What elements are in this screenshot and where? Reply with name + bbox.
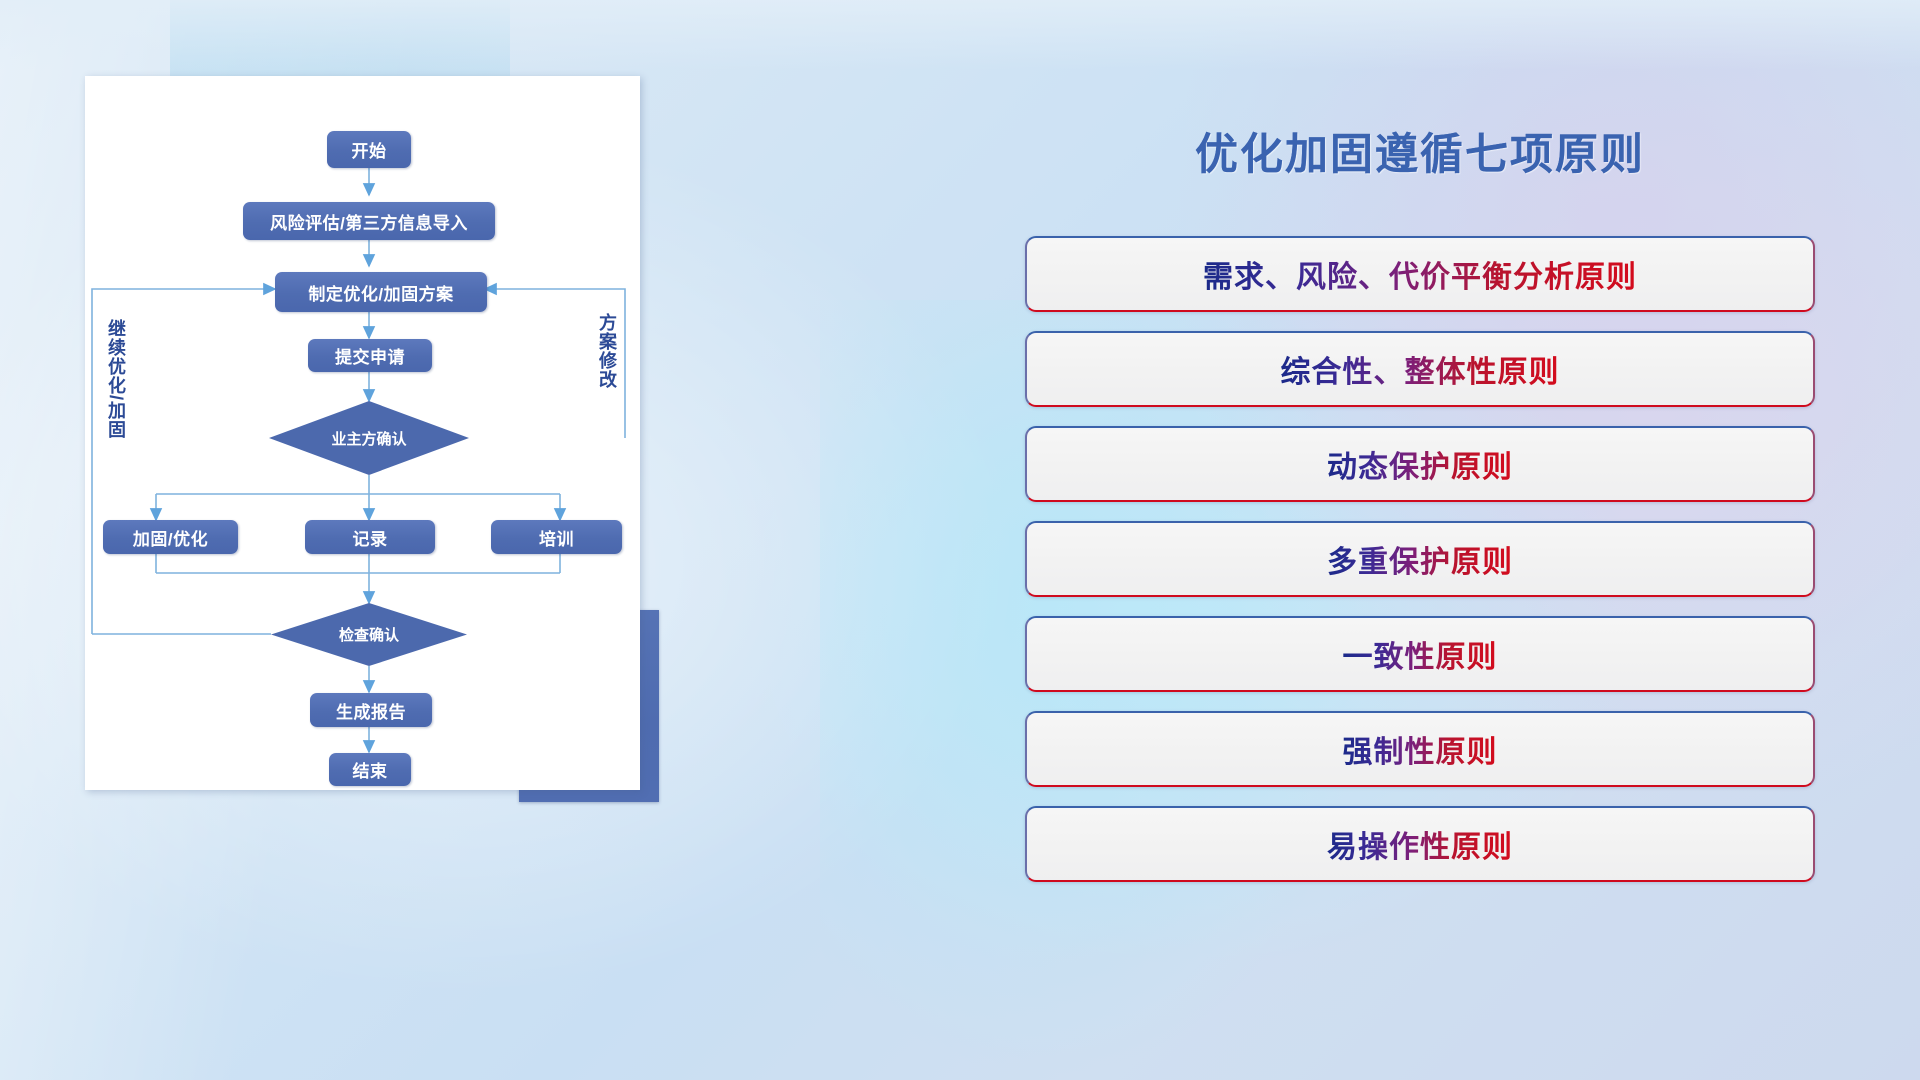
flow-edge-label-plan-revision: 方案修改 bbox=[598, 313, 616, 413]
principle-item-7-label: 易操作性原则 bbox=[1327, 822, 1513, 866]
principle-item-5[interactable]: 一致性原则 bbox=[1025, 616, 1815, 692]
principle-item-3-label: 动态保护原则 bbox=[1327, 442, 1513, 486]
principle-item-6[interactable]: 强制性原则 bbox=[1025, 711, 1815, 787]
flow-node-training[interactable]: 培训 bbox=[491, 520, 622, 554]
principle-item-5-label: 一致性原则 bbox=[1343, 632, 1498, 676]
flow-node-plan[interactable]: 制定优化/加固方案 bbox=[275, 272, 487, 312]
flow-node-check-confirm-label: 检查确认 bbox=[339, 624, 399, 645]
flowchart-card: 开始 风险评估/第三方信息导入 制定优化/加固方案 提交申请 业主方确认 加固/… bbox=[85, 76, 640, 790]
flow-node-record-label: 记录 bbox=[353, 525, 388, 550]
principle-item-1[interactable]: 需求、风险、代价平衡分析原则 bbox=[1025, 236, 1815, 312]
principles-panel-title: 优化加固遵循七项原则 bbox=[1020, 120, 1820, 182]
flow-node-risk-assessment-label: 风险评估/第三方信息导入 bbox=[270, 209, 468, 234]
principle-item-4-label: 多重保护原则 bbox=[1327, 537, 1513, 581]
flow-node-report[interactable]: 生成报告 bbox=[310, 693, 432, 727]
flow-node-report-label: 生成报告 bbox=[336, 698, 406, 723]
flow-node-owner-confirm[interactable]: 业主方确认 bbox=[269, 401, 469, 475]
principle-item-2-label: 综合性、整体性原则 bbox=[1281, 347, 1560, 391]
principle-item-1-label: 需求、风险、代价平衡分析原则 bbox=[1203, 252, 1637, 296]
flow-node-risk-assessment[interactable]: 风险评估/第三方信息导入 bbox=[243, 202, 495, 240]
flow-node-training-label: 培训 bbox=[539, 525, 574, 550]
flow-node-reinforce[interactable]: 加固/优化 bbox=[103, 520, 238, 554]
principles-list: 需求、风险、代价平衡分析原则 综合性、整体性原则 动态保护原则 多重保护原则 一… bbox=[1025, 236, 1815, 901]
flow-node-end-label: 结束 bbox=[353, 757, 388, 782]
flow-edge-label-continue-optimize: 继续优化/加固 bbox=[107, 319, 125, 449]
principle-item-4[interactable]: 多重保护原则 bbox=[1025, 521, 1815, 597]
flow-node-submit-label: 提交申请 bbox=[335, 343, 405, 368]
principle-item-3[interactable]: 动态保护原则 bbox=[1025, 426, 1815, 502]
principle-item-7[interactable]: 易操作性原则 bbox=[1025, 806, 1815, 882]
flow-node-plan-label: 制定优化/加固方案 bbox=[308, 280, 453, 305]
flow-node-end[interactable]: 结束 bbox=[329, 753, 411, 786]
flow-node-reinforce-label: 加固/优化 bbox=[133, 525, 208, 550]
background-top-highlight bbox=[0, 0, 1920, 70]
slide-canvas: 开始 风险评估/第三方信息导入 制定优化/加固方案 提交申请 业主方确认 加固/… bbox=[0, 0, 1920, 1080]
flow-node-check-confirm[interactable]: 检查确认 bbox=[271, 603, 467, 666]
principle-item-6-label: 强制性原则 bbox=[1343, 727, 1498, 771]
principle-item-2[interactable]: 综合性、整体性原则 bbox=[1025, 331, 1815, 407]
flow-node-owner-confirm-label: 业主方确认 bbox=[331, 428, 406, 449]
flow-node-submit[interactable]: 提交申请 bbox=[308, 339, 432, 372]
flow-node-start-label: 开始 bbox=[352, 137, 387, 162]
flow-node-start[interactable]: 开始 bbox=[327, 131, 411, 168]
flow-node-record[interactable]: 记录 bbox=[305, 520, 435, 554]
